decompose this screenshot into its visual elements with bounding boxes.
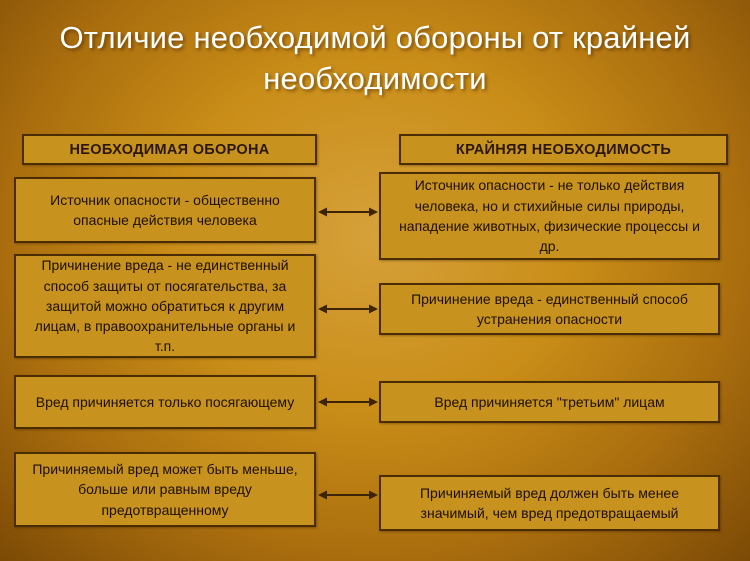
right-box-2: Причинение вреда - единственный способ у…	[379, 283, 720, 335]
double-arrow-icon-1	[318, 206, 378, 218]
double-arrow-icon-3	[318, 396, 378, 408]
left-box-2: Причинение вреда - не единственный спосо…	[14, 254, 316, 358]
double-arrow-icon-4	[318, 489, 378, 501]
left-box-3: Вред причиняется только посягающему	[14, 375, 316, 429]
left-box-4: Причиняемый вред может быть меньше, боль…	[14, 452, 316, 527]
slide-canvas: Отличие необходимой обороны от крайней н…	[0, 0, 750, 561]
right-box-4: Причиняемый вред должен быть менее значи…	[379, 475, 720, 531]
double-arrow-icon-2	[318, 303, 378, 315]
column-header-left: НЕОБХОДИМАЯ ОБОРОНА	[22, 134, 317, 165]
right-box-3: Вред причиняется "третьим" лицам	[379, 381, 720, 423]
column-header-right: КРАЙНЯЯ НЕОБХОДИМОСТЬ	[399, 134, 728, 165]
page-title: Отличие необходимой обороны от крайней н…	[0, 18, 750, 100]
right-box-1: Источник опасности - не только действия …	[379, 172, 720, 260]
left-box-1: Источник опасности - общественно опасные…	[14, 177, 316, 243]
